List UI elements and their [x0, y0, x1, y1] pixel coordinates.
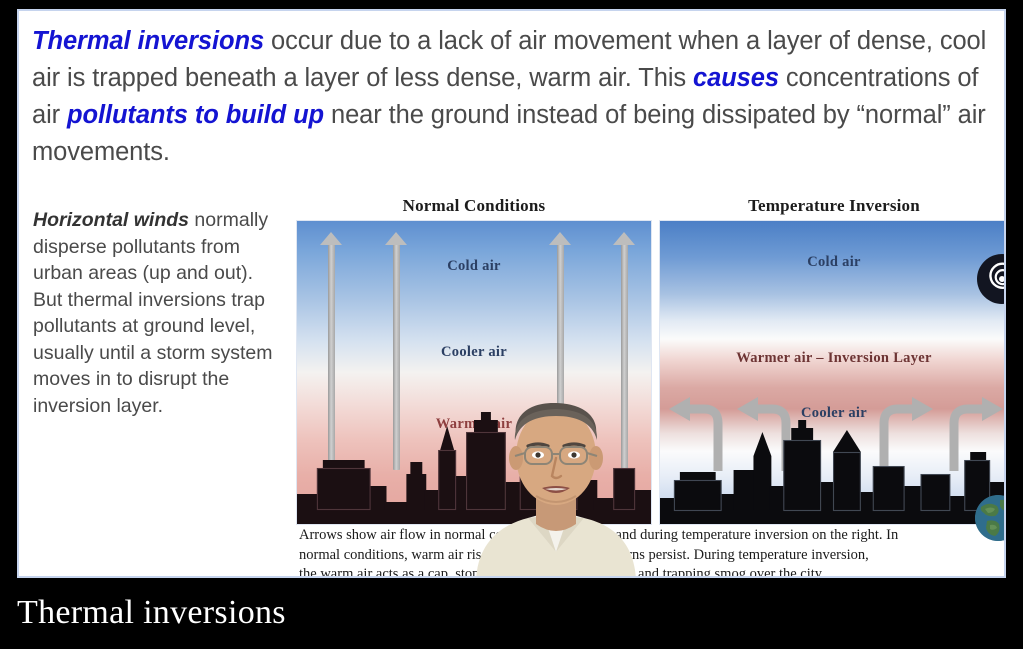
- city-skyline-inversion: [660, 412, 1006, 524]
- sidebar-body: normally disperse pollutants from urban …: [33, 209, 273, 417]
- diagram-panel-temperature-inversion: Temperature Inversion Cold air Warmer ai…: [659, 196, 1006, 525]
- caption-line-1: Arrows show air flow in normal condition…: [299, 526, 1005, 546]
- caption-line-3: the warm air acts as a cap, stopping nor…: [299, 565, 1005, 578]
- label-inversion-layer: Warmer air – Inversion Layer: [660, 350, 1006, 367]
- spiral-target-icon: [985, 262, 1006, 296]
- video-bottom-title: Thermal inversions: [17, 588, 617, 643]
- presentation-slide: Thermal inversions occur due to a lack o…: [17, 9, 1006, 578]
- figure-caption: Arrows show air flow in normal condition…: [299, 526, 1005, 578]
- figure-temperature-inversion: Cold air Warmer air – Inversion Layer Co…: [659, 220, 1006, 525]
- slide-headline: Thermal inversions occur due to a lack o…: [32, 23, 992, 171]
- sidebar-lede: Horizontal winds: [33, 209, 189, 231]
- presenter-video-overlay: [466, 392, 646, 578]
- headline-emphasis-2: causes: [693, 64, 779, 92]
- caption-line-2: normal conditions, warm air rises and no…: [299, 546, 1005, 566]
- sidebar-explanation: Horizontal winds normally disperse pollu…: [33, 207, 285, 419]
- label-cold-air-inversion: Cold air: [660, 254, 1006, 271]
- headline-emphasis-3: pollutants to build up: [67, 101, 324, 129]
- video-player-stage: Thermal inversions occur due to a lack o…: [0, 0, 1023, 649]
- headline-emphasis-1: Thermal inversions: [32, 27, 264, 55]
- panel-title-normal: Normal Conditions: [296, 196, 652, 220]
- label-cold-air-normal: Cold air: [297, 258, 651, 275]
- label-cooler-air-normal: Cooler air: [297, 344, 651, 361]
- panel-title-inversion: Temperature Inversion: [659, 196, 1006, 220]
